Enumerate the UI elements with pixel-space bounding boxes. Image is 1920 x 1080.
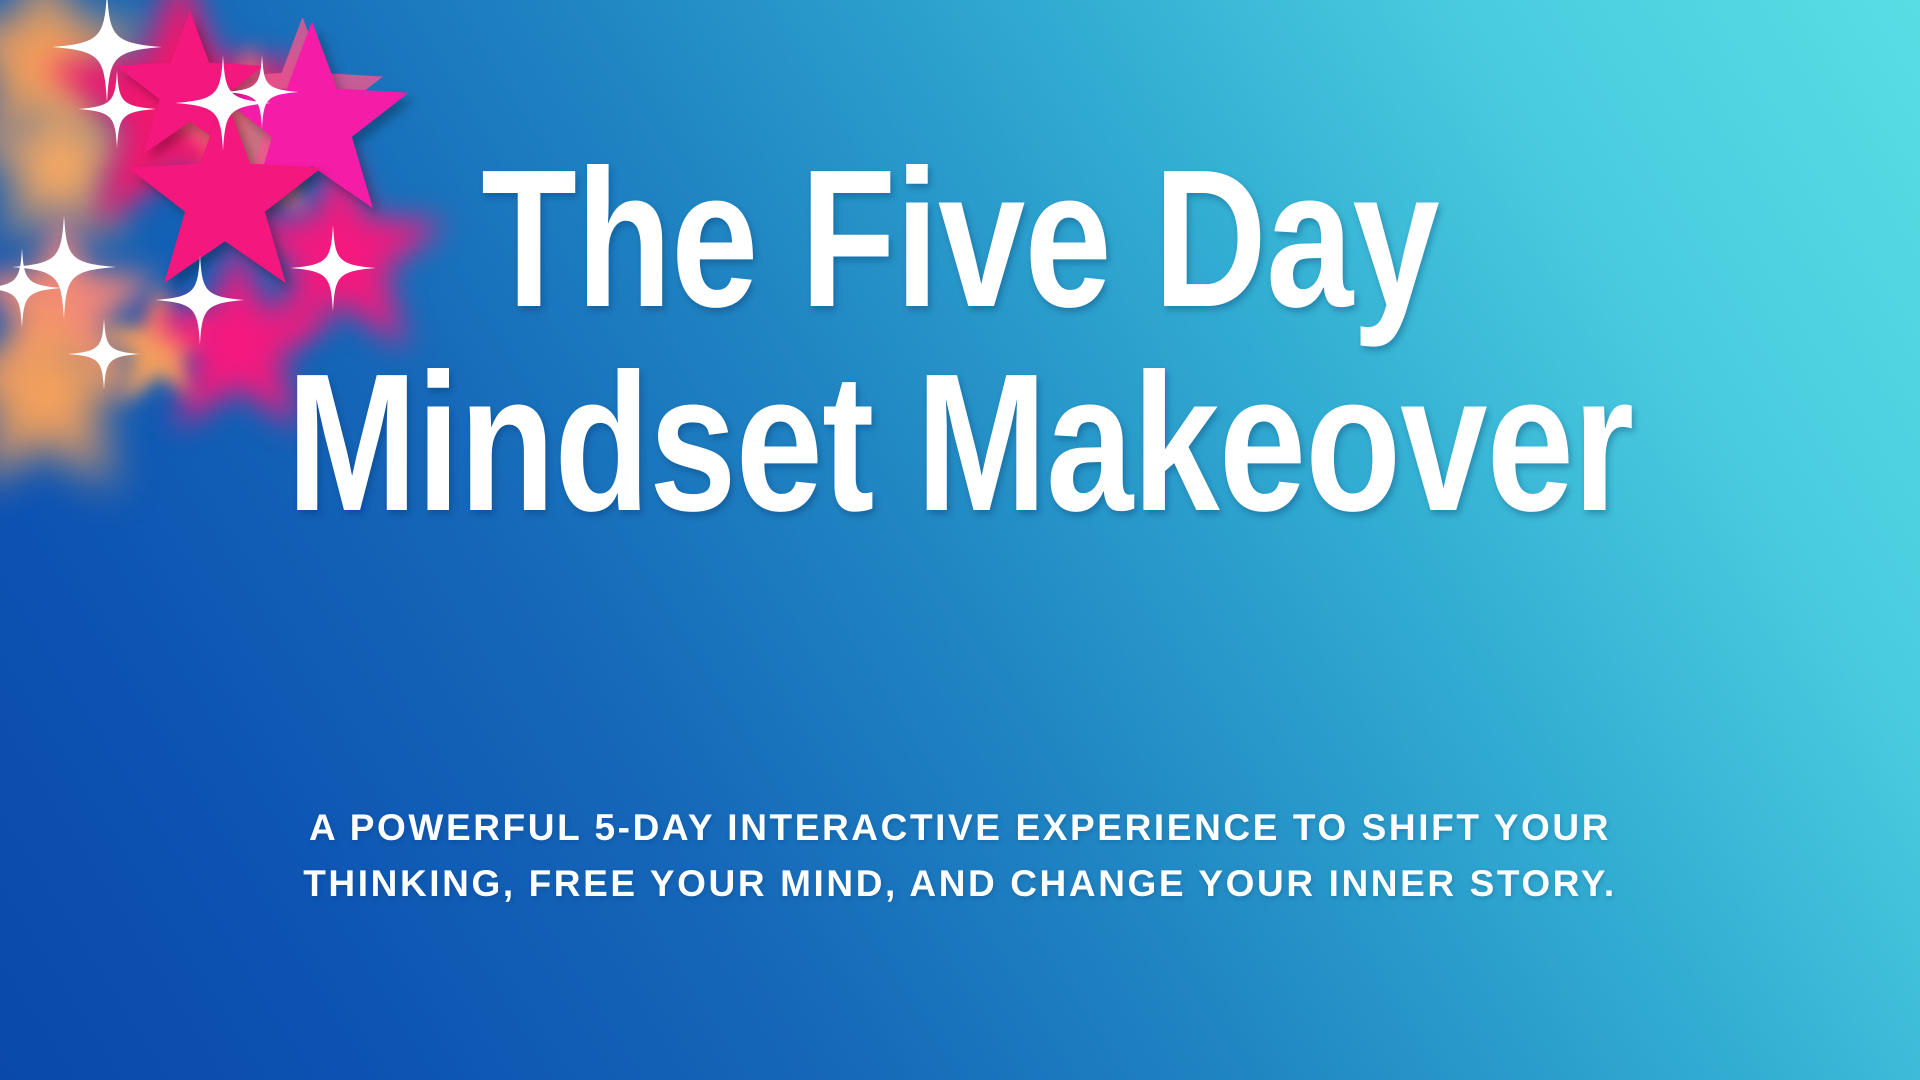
sparkle-glint-icon — [175, 55, 271, 151]
star-pink-sharp-upper — [110, 5, 270, 165]
sparkle-glint-icon — [225, 55, 299, 129]
sparkle-glint-icon — [52, 0, 162, 102]
subtitle: A POWERFUL 5-DAY INTERACTIVE EXPERIENCE … — [0, 800, 1920, 911]
subtitle-line-2: THINKING, FREE YOUR MIND, AND CHANGE YOU… — [0, 856, 1920, 912]
title-line-1: The Five Day — [192, 148, 1728, 330]
page-title: The Five Day Mindset Makeover — [0, 148, 1920, 535]
poster-canvas: The Five Day Mindset Makeover A POWERFUL… — [0, 0, 1920, 1080]
sparkle-glint-icon — [78, 70, 156, 148]
subtitle-line-1: A POWERFUL 5-DAY INTERACTIVE EXPERIENCE … — [0, 800, 1920, 856]
title-line-2: Mindset Makeover — [192, 352, 1728, 534]
star-orange-blurred-topleft — [0, 0, 160, 170]
